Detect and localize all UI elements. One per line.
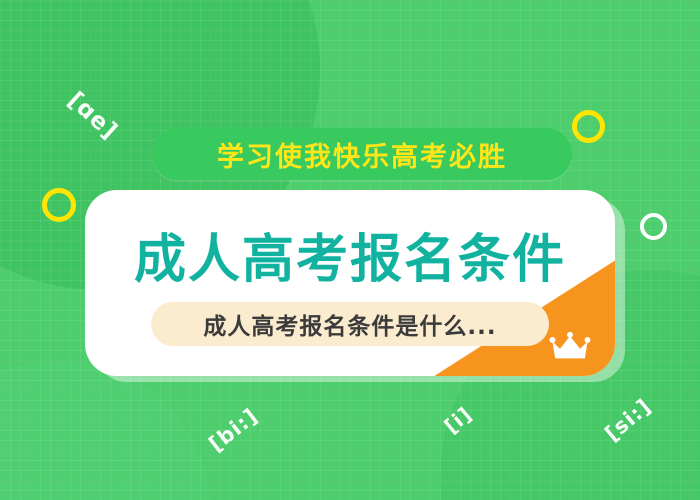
decorative-ring-white-right: [640, 213, 667, 240]
crown-icon: [549, 332, 591, 362]
subtitle-pill: 成人高考报名条件是什么...: [151, 302, 549, 346]
slogan-banner: 学习使我快乐高考必胜: [152, 128, 572, 180]
page-title: 成人高考报名条件: [85, 217, 615, 292]
subtitle-text: 成人高考报名条件是什么...: [203, 307, 496, 341]
slogan-banner-text: 学习使我快乐高考必胜: [217, 135, 507, 174]
decorative-ring-yellow-top: [572, 110, 605, 143]
decorative-ring-yellow-left: [42, 188, 76, 222]
poster-canvas: [ɑe] [bi:] [i] [si:] 学习使我快乐高考必胜 成人高考报名条件…: [0, 0, 700, 500]
main-card: 成人高考报名条件 成人高考报名条件是什么...: [85, 190, 615, 376]
phonetic-decoration-2: [bi:]: [204, 404, 262, 457]
